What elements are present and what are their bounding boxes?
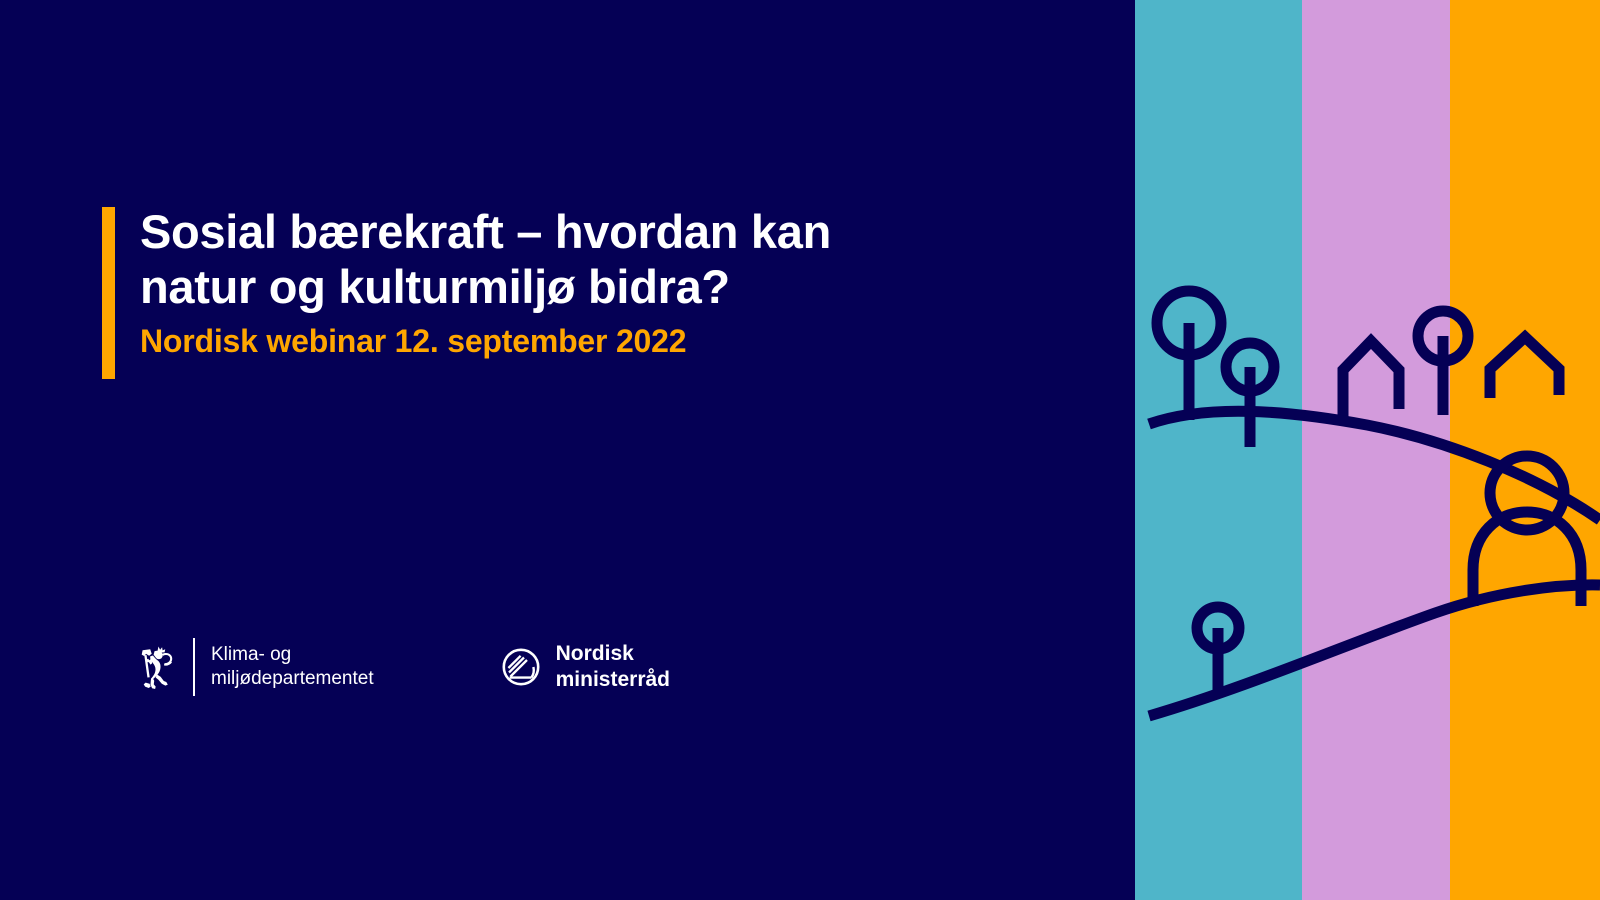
page-subtitle: Nordisk webinar 12. september 2022 (140, 322, 1000, 360)
accent-bar (102, 207, 115, 379)
nordic-council-swan-icon (500, 646, 542, 688)
teal-stripe (1135, 0, 1302, 900)
page-title: Sosial bærekraft – hvordan kan natur og … (140, 205, 1000, 314)
norwegian-coat-of-arms-icon (133, 638, 179, 696)
logo-divider (193, 638, 195, 696)
landscape-illustration (1135, 0, 1600, 900)
nordic-council-logo: Nordisk ministerråd (500, 636, 670, 698)
pink-stripe (1302, 0, 1450, 900)
slide: Sosial bærekraft – hvordan kan natur og … (0, 0, 1600, 900)
ministry-logo-text: Klima- og miljødepartementet (211, 643, 374, 692)
nordic-council-logo-text: Nordisk ministerråd (556, 641, 670, 693)
logo-row: Klima- og miljødepartementet Nordisk min… (133, 636, 670, 698)
headings: Sosial bærekraft – hvordan kan natur og … (140, 205, 1000, 360)
ministry-logo: Klima- og miljødepartementet (133, 636, 374, 698)
